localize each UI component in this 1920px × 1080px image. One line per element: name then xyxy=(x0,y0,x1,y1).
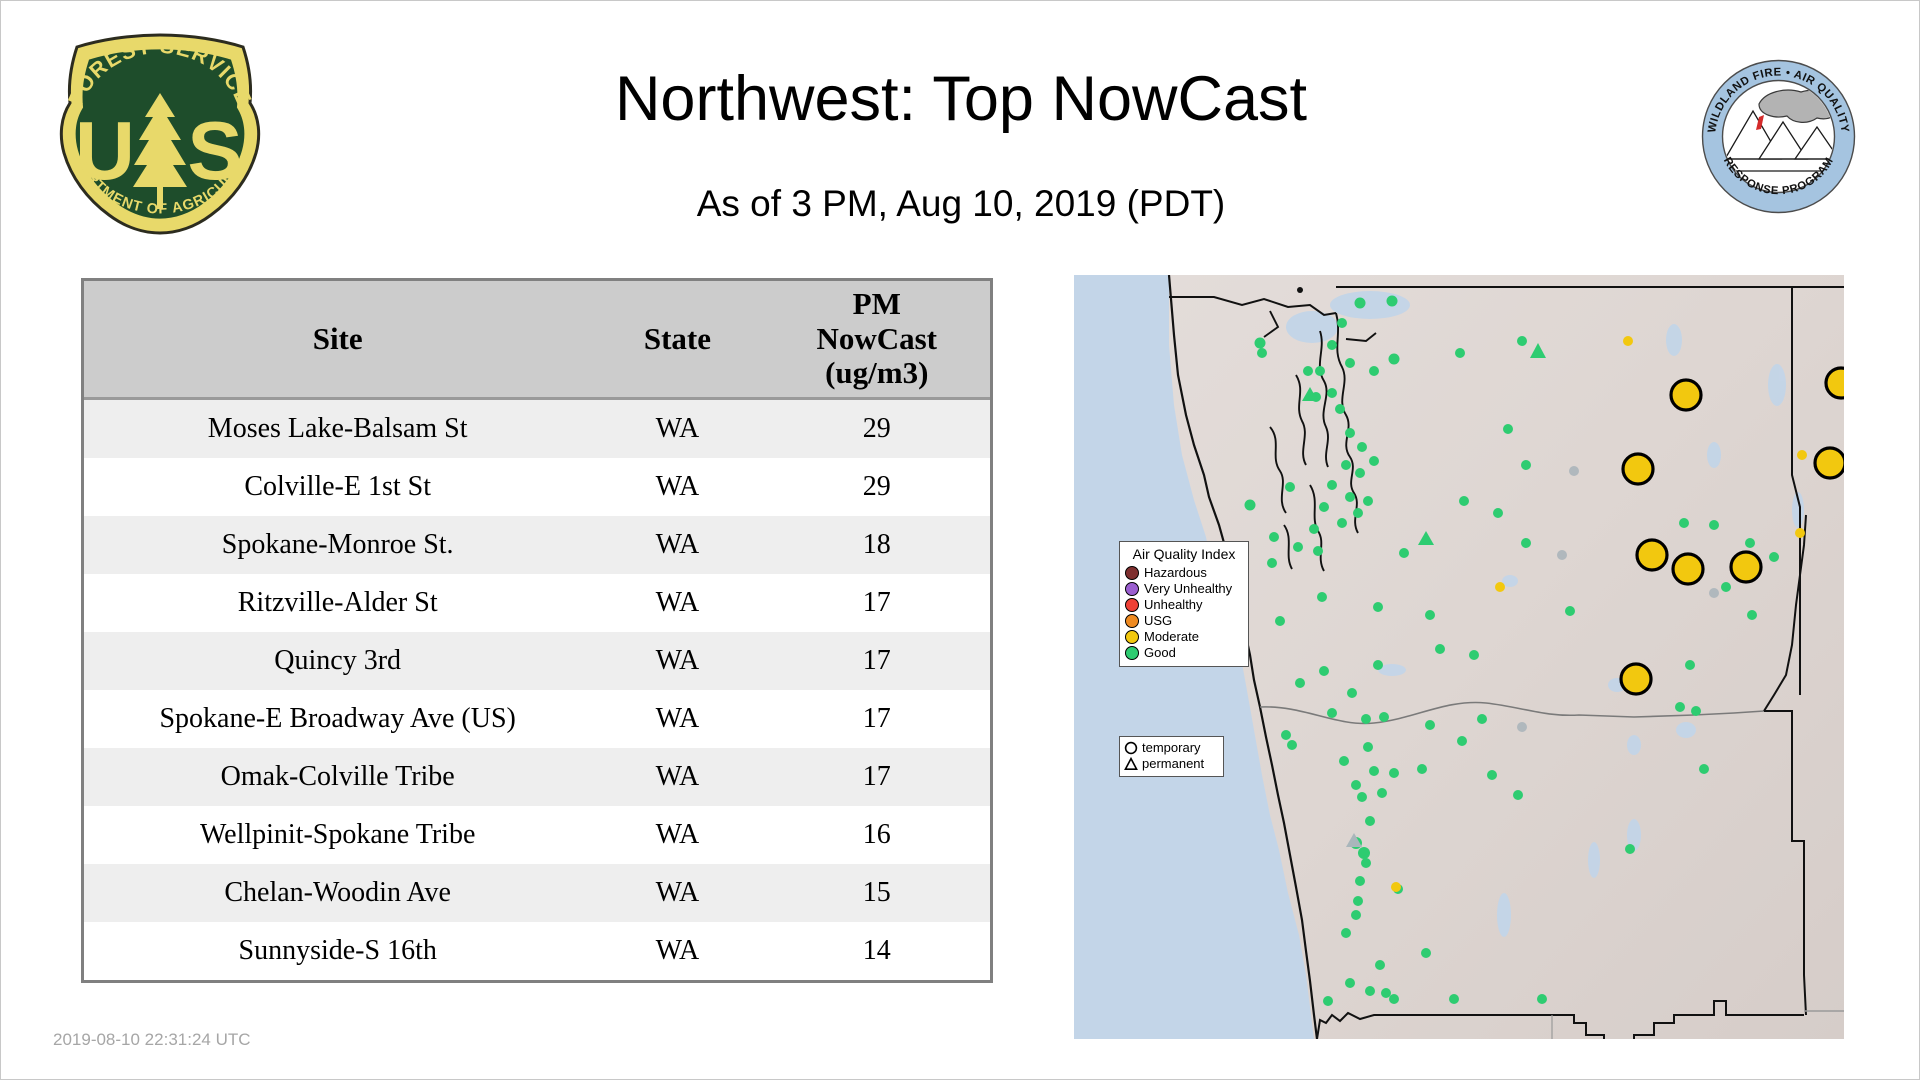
cell-site: Chelan-Woodin Ave xyxy=(84,864,591,922)
cell-site: Sunnyside-S 16th xyxy=(84,922,591,980)
legend-item-moderate: Moderate xyxy=(1125,629,1243,644)
table-row: Spokane-E Broadway Ave (US)WA17 xyxy=(84,690,990,748)
air-quality-index-legend: Air Quality Index HazardousVery Unhealth… xyxy=(1119,541,1249,667)
table-row: Moses Lake-Balsam StWA29 xyxy=(84,399,990,459)
cell-site: Colville-E 1st St xyxy=(84,458,591,516)
cell-pm-nowcast: 16 xyxy=(763,806,990,864)
table-row: Wellpinit-Spokane TribeWA16 xyxy=(84,806,990,864)
cell-pm-nowcast: 29 xyxy=(763,399,990,459)
monitor-type-legend: temporary permanent xyxy=(1119,736,1224,777)
cell-pm-nowcast: 18 xyxy=(763,516,990,574)
cell-pm-nowcast: 15 xyxy=(763,864,990,922)
legend-item-hazardous: Hazardous xyxy=(1125,565,1243,580)
aqi-color-dot-icon xyxy=(1125,614,1139,628)
cell-pm-nowcast: 17 xyxy=(763,632,990,690)
cell-state: WA xyxy=(591,690,763,748)
page-title: Northwest: Top NowCast xyxy=(1,63,1920,135)
legend-rows: HazardousVery UnhealthyUnhealthyUSGModer… xyxy=(1125,565,1243,660)
cell-state: WA xyxy=(591,574,763,632)
triangle-icon xyxy=(1124,756,1138,772)
cell-state: WA xyxy=(591,806,763,864)
legend-item-permanent: permanent xyxy=(1124,756,1218,772)
site-marker-omak xyxy=(1671,380,1701,410)
site-marker-chelan xyxy=(1623,454,1653,484)
table-row: Ritzville-Alder StWA17 xyxy=(84,574,990,632)
site-marker-ritzville xyxy=(1731,552,1761,582)
circle-icon xyxy=(1124,740,1138,756)
page-subtitle: As of 3 PM, Aug 10, 2019 (PDT) xyxy=(1,183,1920,225)
site-marker-colville xyxy=(1826,368,1844,398)
cell-pm-nowcast: 17 xyxy=(763,690,990,748)
column-header-pm-nowcast: PM NowCast (ug/m3) xyxy=(763,281,990,399)
table-header-row: Site State PM NowCast (ug/m3) xyxy=(84,281,990,399)
aqi-legend-label: Moderate xyxy=(1144,629,1199,644)
cell-site: Ritzville-Alder St xyxy=(84,574,591,632)
aqi-legend-label: Good xyxy=(1144,645,1176,660)
pm-header-line-2: NowCast xyxy=(767,322,986,357)
legend-label-temporary: temporary xyxy=(1142,740,1201,756)
aqi-color-dot-icon xyxy=(1125,566,1139,580)
legend-item-usg: USG xyxy=(1125,613,1243,628)
table-row: Sunnyside-S 16thWA14 xyxy=(84,922,990,980)
aqi-color-dot-icon xyxy=(1125,630,1139,644)
legend-title: Air Quality Index xyxy=(1125,546,1243,562)
cell-state: WA xyxy=(591,399,763,459)
slide-root: FOREST SERVICE U S DEPARTMENT OF AGRICUL… xyxy=(1,1,1919,1079)
table-row: Chelan-Woodin AveWA15 xyxy=(84,864,990,922)
site-marker-wellpinit xyxy=(1815,448,1844,478)
cell-state: WA xyxy=(591,632,763,690)
column-header-state: State xyxy=(591,281,763,399)
pm-header-line-1: PM xyxy=(767,287,986,322)
cell-state: WA xyxy=(591,458,763,516)
cell-state: WA xyxy=(591,748,763,806)
legend-label-permanent: permanent xyxy=(1142,756,1204,772)
aqi-legend-label: Very Unhealthy xyxy=(1144,581,1232,596)
cell-pm-nowcast: 17 xyxy=(763,574,990,632)
cell-state: WA xyxy=(591,516,763,574)
aqi-color-dot-icon xyxy=(1125,646,1139,660)
cell-site: Moses Lake-Balsam St xyxy=(84,399,591,459)
cell-pm-nowcast: 14 xyxy=(763,922,990,980)
top-nowcast-table: Site State PM NowCast (ug/m3) Moses Lake… xyxy=(84,281,990,980)
cell-state: WA xyxy=(591,864,763,922)
cell-state: WA xyxy=(591,922,763,980)
column-header-site: Site xyxy=(84,281,591,399)
cell-site: Quincy 3rd xyxy=(84,632,591,690)
legend-item-very-unhealthy: Very Unhealthy xyxy=(1125,581,1243,596)
cell-site: Wellpinit-Spokane Tribe xyxy=(84,806,591,864)
aqi-legend-label: Hazardous xyxy=(1144,565,1207,580)
aqi-color-dot-icon xyxy=(1125,598,1139,612)
table-row: Colville-E 1st StWA29 xyxy=(84,458,990,516)
table-header: Site State PM NowCast (ug/m3) xyxy=(84,281,990,399)
top-nowcast-table-container: Site State PM NowCast (ug/m3) Moses Lake… xyxy=(81,278,993,983)
table-row: Spokane-Monroe St.WA18 xyxy=(84,516,990,574)
cell-pm-nowcast: 29 xyxy=(763,458,990,516)
legend-item-good: Good xyxy=(1125,645,1243,660)
aqi-color-dot-icon xyxy=(1125,582,1139,596)
legend-item-temporary: temporary xyxy=(1124,740,1218,756)
cell-pm-nowcast: 17 xyxy=(763,748,990,806)
table-row: Quincy 3rdWA17 xyxy=(84,632,990,690)
cell-site: Spokane-Monroe St. xyxy=(84,516,591,574)
pm-header-line-3: (ug/m3) xyxy=(767,356,986,391)
cell-site: Spokane-E Broadway Ave (US) xyxy=(84,690,591,748)
generated-timestamp: 2019-08-10 22:31:24 UTC xyxy=(53,1030,251,1050)
site-marker-quincy xyxy=(1637,540,1667,570)
site-marker-sunnyside xyxy=(1621,664,1651,694)
site-marker-moses-lake xyxy=(1673,554,1703,584)
cell-site: Omak-Colville Tribe xyxy=(84,748,591,806)
legend-item-unhealthy: Unhealthy xyxy=(1125,597,1243,612)
table-row: Omak-Colville TribeWA17 xyxy=(84,748,990,806)
aqi-legend-label: Unhealthy xyxy=(1144,597,1203,612)
table-body: Moses Lake-Balsam StWA29Colville-E 1st S… xyxy=(84,399,990,981)
aqi-legend-label: USG xyxy=(1144,613,1172,628)
